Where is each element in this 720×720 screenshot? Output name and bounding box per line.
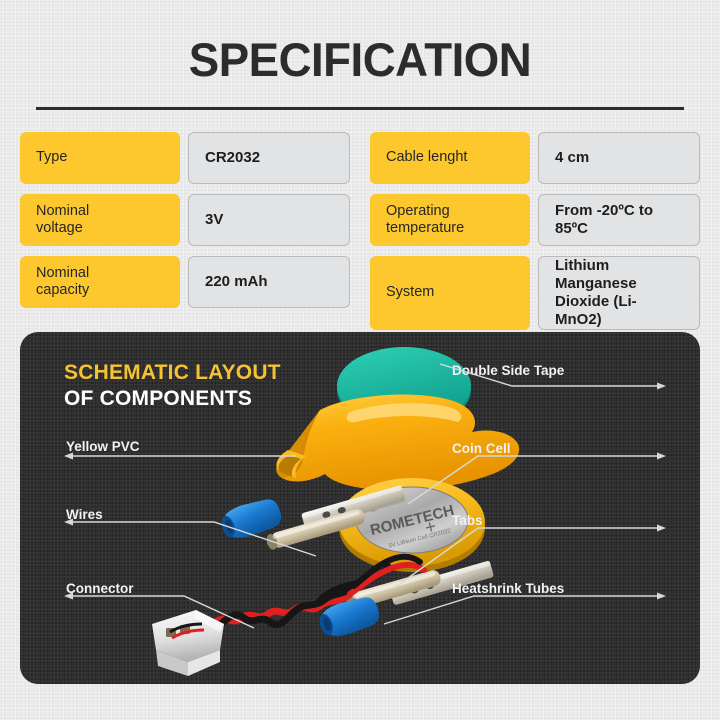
callout-wires: Wires bbox=[64, 496, 316, 556]
callout-yellow-pvc: Yellow PVC bbox=[64, 428, 296, 462]
spec-row-nominal-capacity: Nominalcapacity 220 mAh bbox=[20, 256, 350, 308]
spec-label: Nominalvoltage bbox=[20, 194, 180, 246]
spec-row-operating-temperature: Operatingtemperature From -20ºC to 85ºC bbox=[370, 194, 700, 246]
spec-value: 4 cm bbox=[538, 132, 700, 184]
schematic-panel: SCHEMATIC LAYOUT OF COMPONENTS bbox=[20, 332, 700, 684]
spec-value: Lithium Manganese Dioxide (Li-MnO2) bbox=[538, 256, 700, 330]
spec-row-type: Type CR2032 bbox=[20, 132, 350, 184]
spec-value: 3V bbox=[188, 194, 350, 246]
schematic-heading-line1: SCHEMATIC LAYOUT bbox=[64, 360, 281, 386]
schematic-heading-line2: OF COMPONENTS bbox=[64, 386, 281, 412]
page-title: SPECIFICATION bbox=[11, 0, 709, 87]
specification-infographic: SPECIFICATION Type CR2032 Cable lenght 4… bbox=[0, 0, 720, 720]
spec-label: Nominalcapacity bbox=[20, 256, 180, 308]
callout-coin-cell: Coin Cell bbox=[450, 424, 666, 484]
schematic-heading: SCHEMATIC LAYOUT OF COMPONENTS bbox=[64, 360, 281, 413]
spec-row-nominal-voltage: Nominalvoltage 3V bbox=[20, 194, 350, 246]
spec-row-cable-length: Cable lenght 4 cm bbox=[370, 132, 700, 184]
spec-value: From -20ºC to 85ºC bbox=[538, 194, 700, 246]
spec-row-system: System Lithium Manganese Dioxide (Li-MnO… bbox=[370, 256, 700, 308]
spec-value: 220 mAh bbox=[188, 256, 350, 308]
spec-label: Operatingtemperature bbox=[370, 194, 530, 246]
spec-label: System bbox=[370, 256, 530, 330]
spec-label: Type bbox=[20, 132, 180, 184]
spec-value: CR2032 bbox=[188, 132, 350, 184]
callout-tabs: Tabs bbox=[450, 496, 666, 556]
callout-connector: Connector bbox=[64, 570, 296, 630]
spec-label: Cable lenght bbox=[370, 132, 530, 184]
title-divider bbox=[36, 107, 684, 110]
callout-double-side-tape: Double Side Tape bbox=[450, 352, 666, 392]
callout-heatshrink-tubes: Heatshrink Tubes bbox=[450, 568, 666, 618]
spec-table: Type CR2032 Cable lenght 4 cm Nominalvol… bbox=[20, 132, 700, 308]
